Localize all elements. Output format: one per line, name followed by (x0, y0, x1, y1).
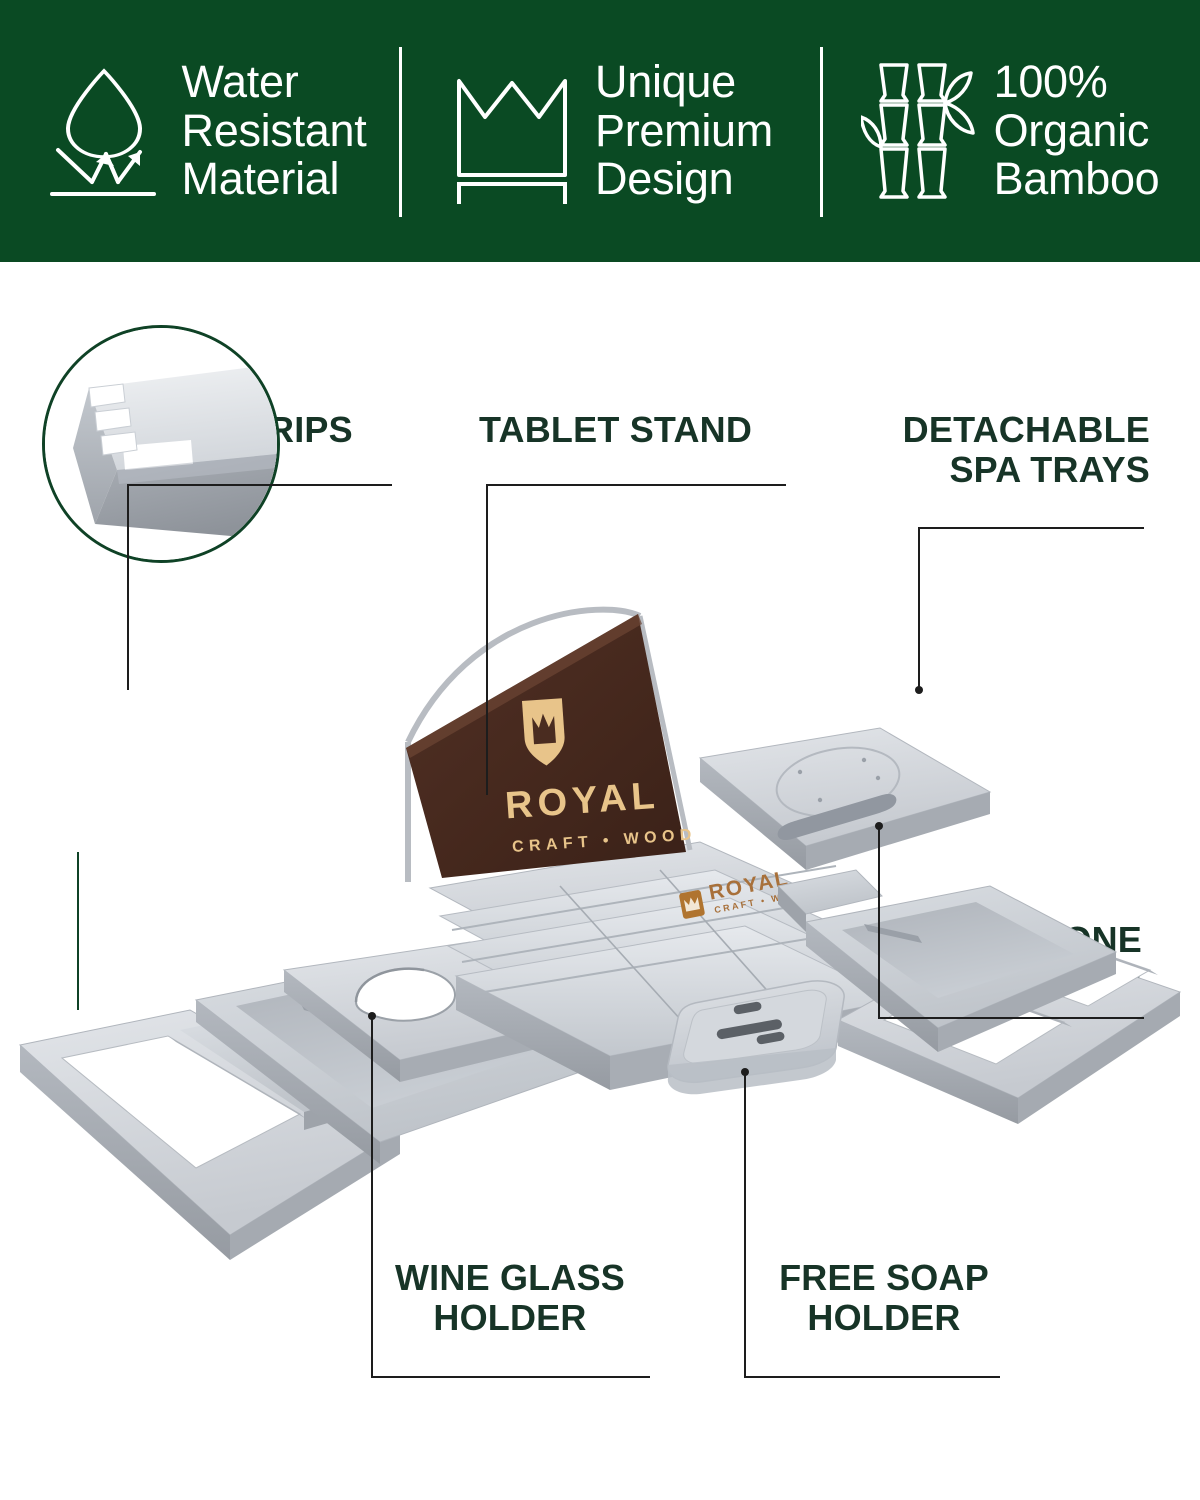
banner-feature-organic-bamboo: 100% Organic Bamboo (820, 0, 1200, 262)
bamboo-stalks-icon (861, 51, 976, 211)
right-sliding-panel-phone-holder (700, 728, 990, 870)
infographic-page: Water Resistant Material Unique Premium … (0, 0, 1200, 1500)
tablet-stand-book: ROYAL CRAFT • WOOD (406, 610, 697, 882)
banner-feature-water-resistant: Water Resistant Material (0, 0, 400, 262)
banner-feature-premium-design: Unique Premium Design (400, 0, 820, 262)
banner-feature-text: Water Resistant Material (182, 58, 367, 204)
silicone-grips-zoom-circle (42, 325, 280, 563)
feature-banner: Water Resistant Material Unique Premium … (0, 0, 1200, 262)
silicone-grips-detail (45, 328, 277, 560)
banner-feature-text: Unique Premium Design (595, 58, 773, 204)
crown-icon (447, 59, 577, 204)
banner-feature-text: 100% Organic Bamboo (994, 58, 1160, 204)
water-droplet-repel-icon (44, 56, 164, 206)
